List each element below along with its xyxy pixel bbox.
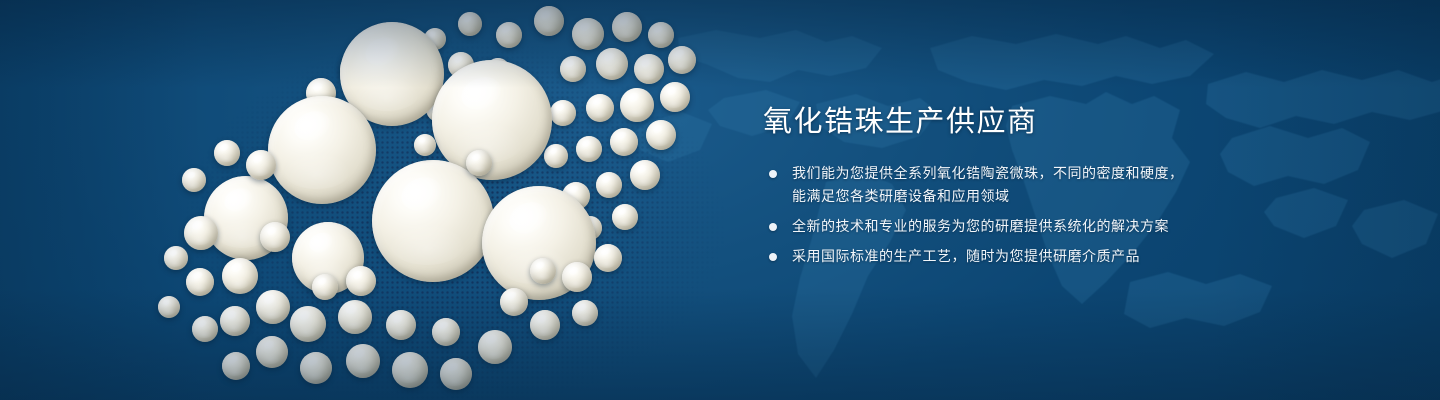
hero-banner: 氧化锆珠生产供应商 我们能为您提供全系列氧化锆陶瓷微珠，不同的密度和硬度， 能满…: [0, 0, 1440, 400]
vignette-overlay: [0, 0, 1440, 400]
